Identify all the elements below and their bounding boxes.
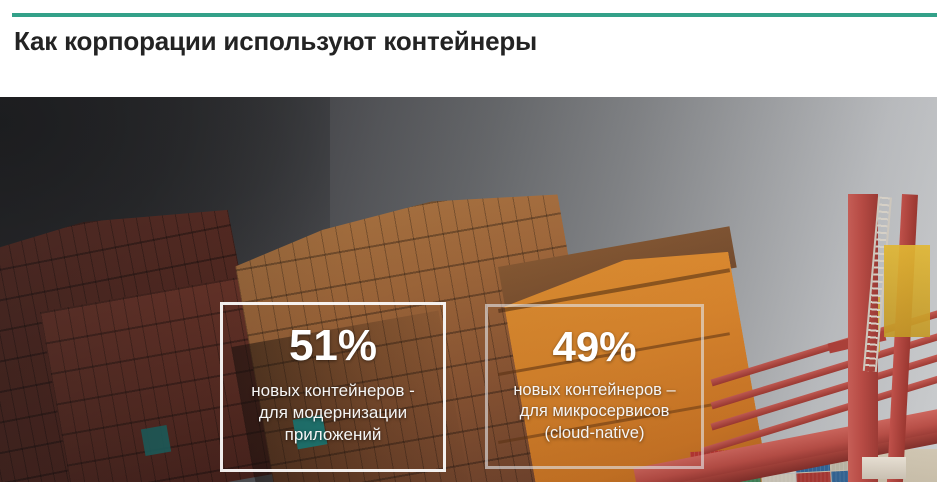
accent-rule-top — [12, 13, 937, 17]
hero-photo: 51% новых контейнеров - для модернизации… — [0, 97, 937, 482]
page-title: Как корпорации используют контейнеры — [14, 26, 537, 57]
stat-card-modernization: 51% новых контейнеров - для модернизации… — [220, 302, 446, 472]
stat-card-microservices: 49% новых контейнеров – для микросервисо… — [485, 304, 704, 469]
stat-description: новых контейнеров – для микросервисов (c… — [485, 380, 704, 444]
teal-container-a — [141, 425, 171, 456]
slide-root: Как корпорации используют контейнеры — [0, 0, 937, 489]
crane-spreader — [862, 457, 906, 479]
stat-value: 51% — [220, 324, 446, 368]
stat-description: новых контейнеров - для модернизации при… — [220, 380, 446, 446]
crane-machinery-primary — [884, 245, 930, 337]
stat-value: 49% — [485, 326, 704, 368]
